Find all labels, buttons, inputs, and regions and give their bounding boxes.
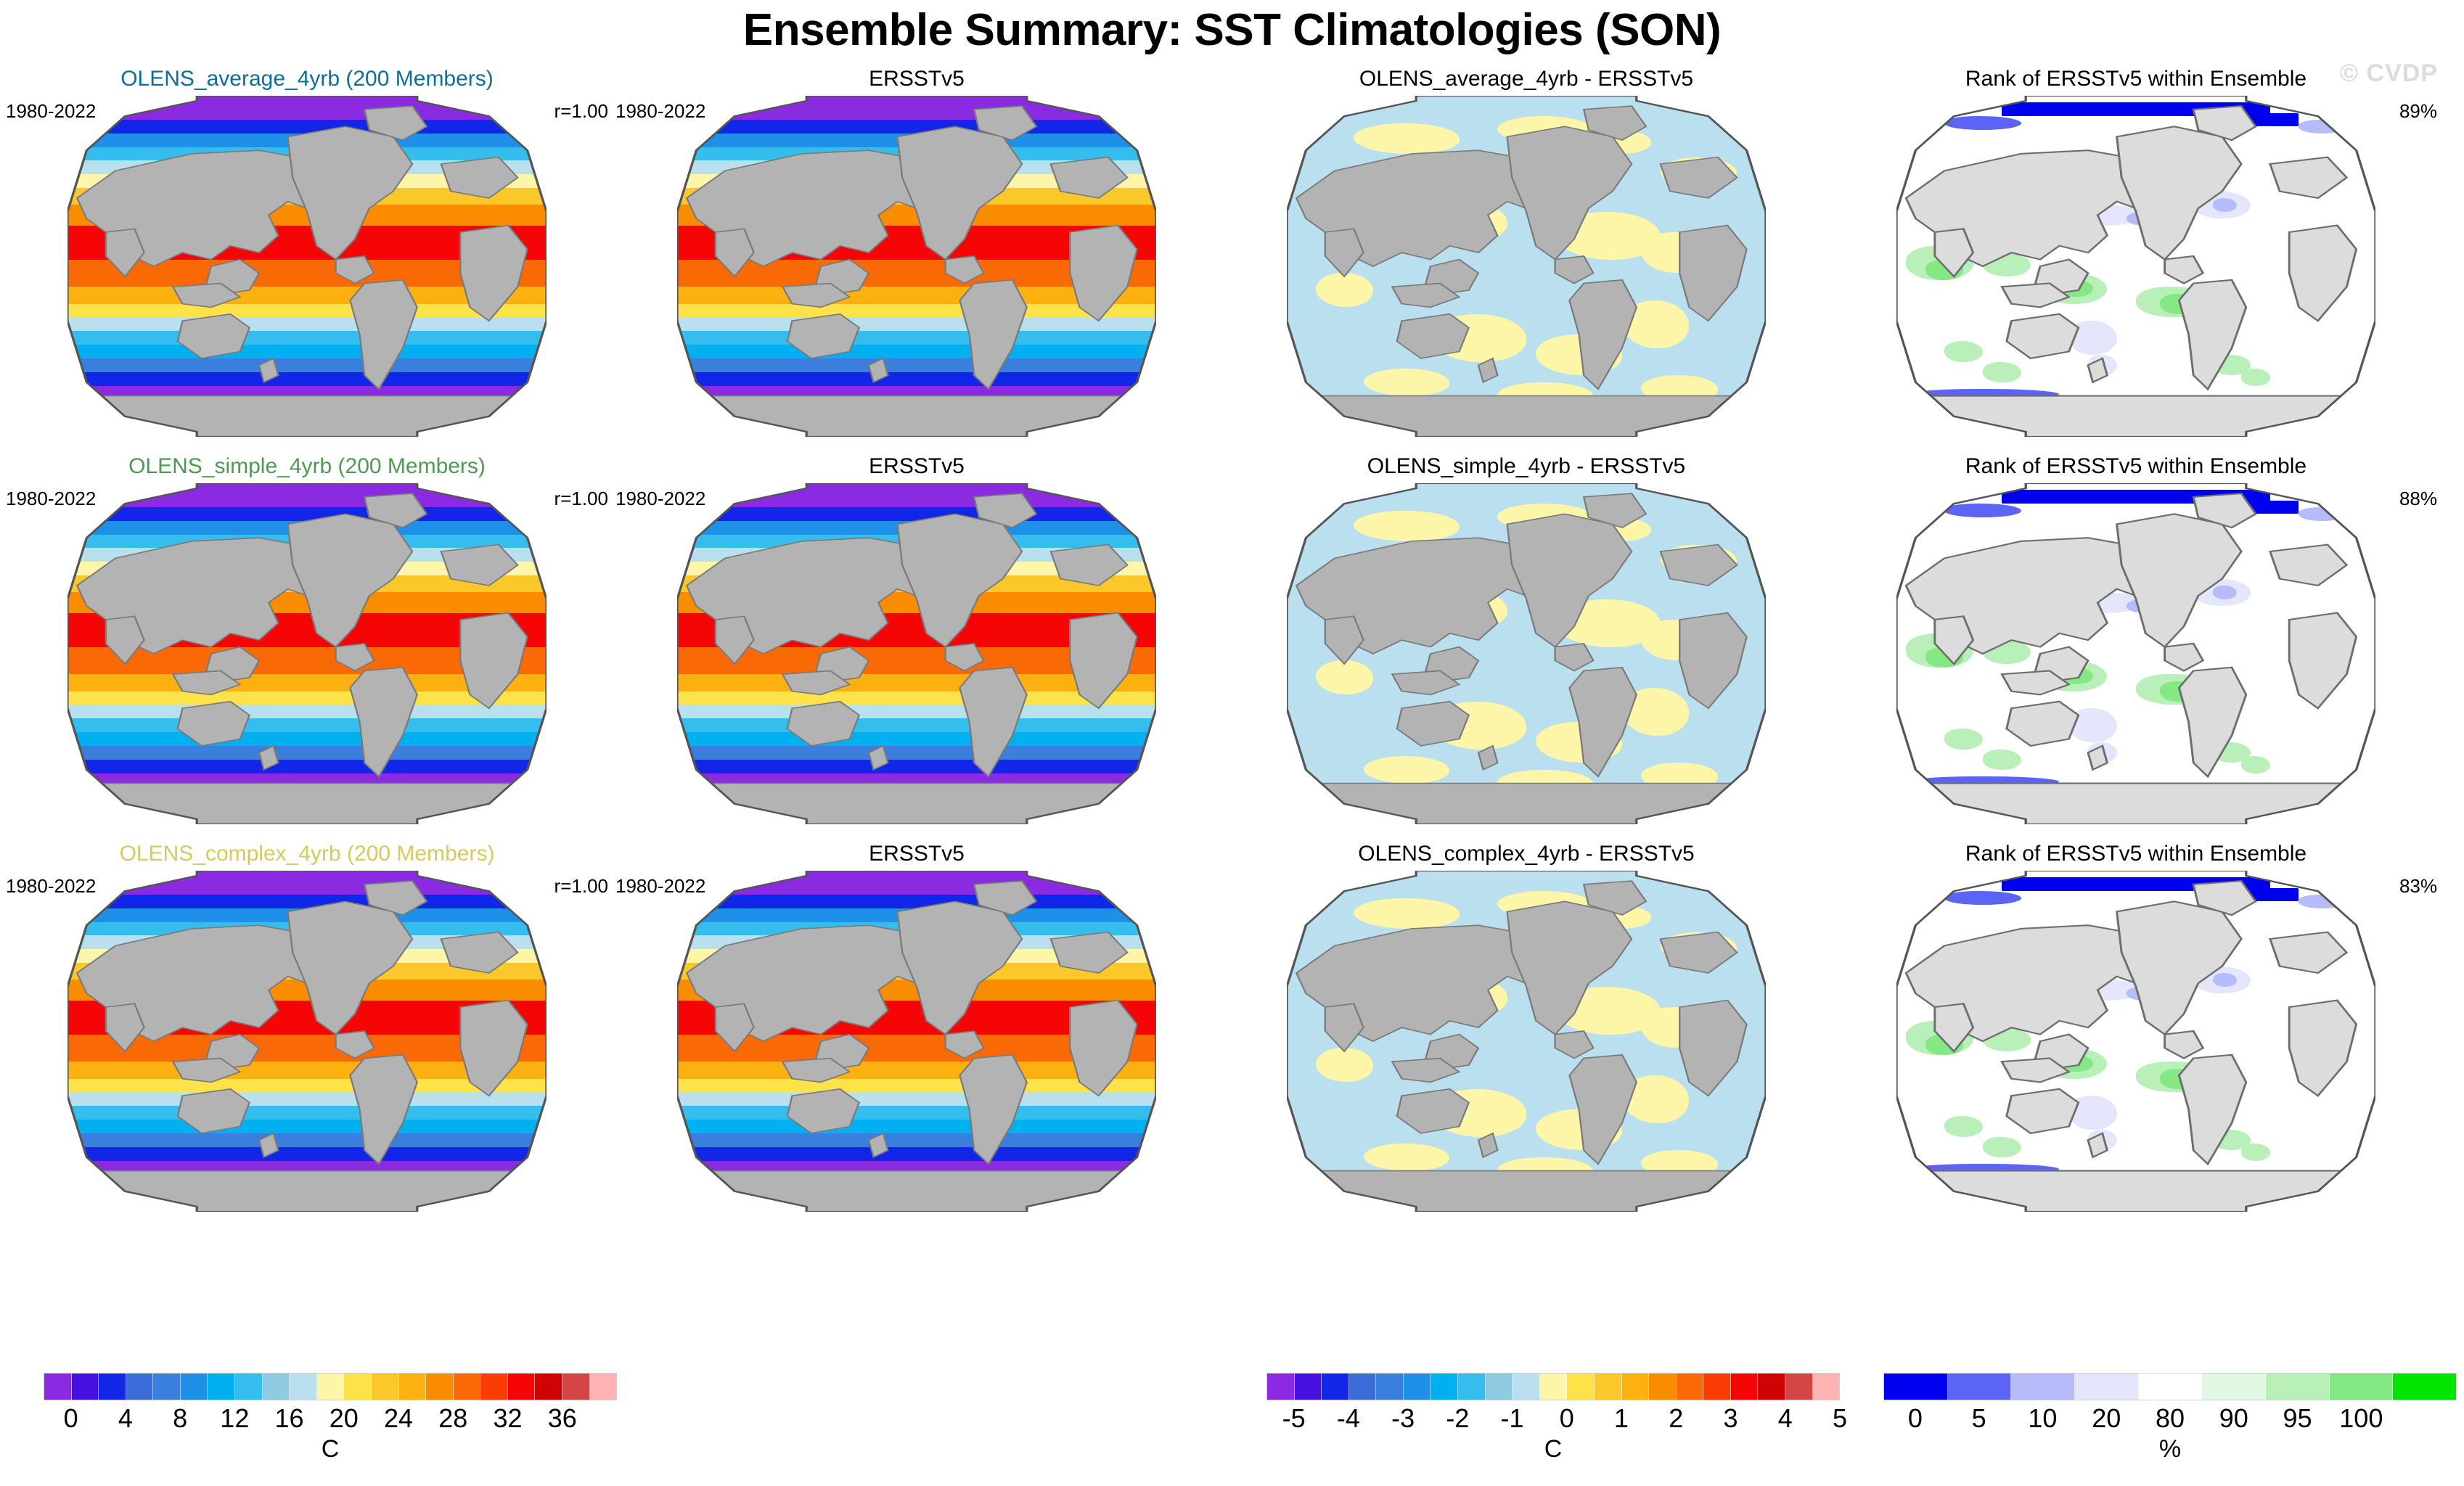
panel-title-ensemble: OLENS_simple_4yrb (200 Members) [6, 454, 608, 479]
colorbar-strip [1883, 1373, 2457, 1400]
map-rank[interactable] [1896, 96, 2375, 437]
colorbar-tick: 95 [2283, 1403, 2312, 1434]
correlation-label: r=1.00 [554, 100, 608, 123]
panel-title-observation: ERSSTv5 [615, 842, 1218, 866]
colorbar-swatch [181, 1374, 208, 1400]
colorbar-tick: 2 [1669, 1403, 1683, 1434]
colorbar-tick: 16 [275, 1403, 304, 1434]
panel-title-ensemble: OLENS_average_4yrb (200 Members) [6, 67, 608, 91]
colorbar-tick: 10 [2028, 1403, 2057, 1434]
colorbar-swatch [126, 1374, 154, 1400]
colorbar-swatch [1267, 1374, 1295, 1400]
panel-title-difference: OLENS_average_4yrb - ERSSTv5 [1225, 67, 1827, 91]
colorbar-tick: -3 [1391, 1403, 1415, 1434]
colorbar-swatch [235, 1374, 263, 1400]
colorbar-tick: -5 [1282, 1403, 1306, 1434]
panel-title-rank: Rank of ERSSTv5 within Ensemble [1835, 842, 2437, 866]
panel-difference-row1: OLENS_simple_4yrb - ERSSTv5 [1225, 454, 1827, 832]
land-outlines [1287, 871, 1766, 1212]
correlation-label: r=1.00 [554, 875, 608, 898]
colorbar-swatch [2139, 1374, 2203, 1400]
globe-rank [1896, 483, 2375, 824]
land-outlines [1287, 96, 1766, 437]
colorbar-swatch [99, 1374, 126, 1400]
land-outlines [1896, 483, 2375, 824]
panel-observation-row0: ERSSTv5 1980-2022 [615, 67, 1218, 444]
panel-rank-row2: Rank of ERSSTv5 within Ensemble 83% [1835, 842, 2437, 1219]
colorbar-rank: 051020809095100 % [1883, 1373, 2457, 1474]
rank-percentage-label: 88% [2399, 488, 2437, 510]
colorbar-swatch [1731, 1374, 1759, 1400]
colorbar-tick: 24 [384, 1403, 413, 1434]
land-outlines [67, 871, 547, 1212]
colorbar-swatch [317, 1374, 345, 1400]
land-outlines [67, 96, 547, 437]
panel-title-difference: OLENS_complex_4yrb - ERSSTv5 [1225, 842, 1827, 866]
globe-ensemble [67, 96, 547, 437]
panel-observation-row2: ERSSTv5 1980-2022 [615, 842, 1218, 1219]
colorbar-swatch [290, 1374, 317, 1400]
colorbar-swatch [480, 1374, 508, 1400]
colorbar-swatch [1349, 1374, 1377, 1400]
colorbar-swatch [2075, 1374, 2139, 1400]
page-title: Ensemble Summary: SST Climatologies (SON… [0, 4, 2464, 56]
panel-title-ensemble: OLENS_complex_4yrb (200 Members) [6, 842, 608, 866]
colorbar-swatch [399, 1374, 427, 1400]
colorbar-tick: 12 [220, 1403, 249, 1434]
globe-observation [677, 96, 1156, 437]
colorbar-swatch [1513, 1374, 1540, 1400]
colorbar-tick: 28 [438, 1403, 467, 1434]
colorbar-swatch [2011, 1374, 2075, 1400]
panel-rank-row1: Rank of ERSSTv5 within Ensemble 88% [1835, 454, 2437, 832]
colorbar-swatch [1622, 1374, 1650, 1400]
colorbar-swatch [590, 1374, 617, 1400]
colorbar-swatch [1430, 1374, 1458, 1400]
colorbar-strip [44, 1373, 617, 1400]
colorbar-swatch [1884, 1374, 1948, 1400]
globe-rank [1896, 871, 2375, 1212]
colorbar-tick: 1 [1614, 1403, 1629, 1434]
colorbar-swatch [1540, 1374, 1568, 1400]
colorbar-tick: -1 [1501, 1403, 1524, 1434]
globe-difference [1287, 96, 1766, 437]
colorbar-swatch [1677, 1374, 1704, 1400]
colorbar-swatch [1486, 1374, 1513, 1400]
colorbar-tick: 20 [2092, 1403, 2121, 1434]
colorbar-tick: 90 [2219, 1403, 2248, 1434]
colorbar-tick: 80 [2156, 1403, 2185, 1434]
colorbar-swatch [1458, 1374, 1486, 1400]
colorbar-ticks: 04812162024283236 [44, 1403, 617, 1435]
colorbar-difference: -5-4-3-2-1012345 C [1266, 1373, 1840, 1474]
panel-title-observation: ERSSTv5 [615, 454, 1218, 479]
colorbar-swatch [1376, 1374, 1404, 1400]
colorbar-swatch [426, 1374, 454, 1400]
colorbar-swatch [153, 1374, 181, 1400]
globe-rank [1896, 96, 2375, 437]
colorbar-tick: 36 [548, 1403, 577, 1434]
land-outlines [677, 871, 1156, 1212]
colorbar-swatch [44, 1374, 72, 1400]
colorbar-tick: 0 [1560, 1403, 1574, 1434]
colorbar-tick: 0 [1908, 1403, 1923, 1434]
colorbar-swatch [1758, 1374, 1785, 1400]
colorbar-tick: 32 [493, 1403, 522, 1434]
map-ensemble[interactable] [67, 871, 547, 1212]
panel-title-difference: OLENS_simple_4yrb - ERSSTv5 [1225, 454, 1827, 479]
colorbar-tick: -4 [1337, 1403, 1360, 1434]
colorbar-swatch [1567, 1374, 1595, 1400]
correlation-label: r=1.00 [554, 488, 608, 510]
panel-difference-row0: OLENS_average_4yrb - ERSSTv5 [1225, 67, 1827, 444]
colorbar-tick: 4 [118, 1403, 133, 1434]
colorbar-swatch [1703, 1374, 1731, 1400]
land-outlines [677, 483, 1156, 824]
colorbar-sst: 04812162024283236 C [44, 1373, 617, 1474]
colorbar-tick: 5 [1972, 1403, 1986, 1434]
panel-title-observation: ERSSTv5 [615, 67, 1218, 91]
colorbar-swatch [263, 1374, 290, 1400]
globe-observation [677, 871, 1156, 1212]
colorbar-swatch [2202, 1374, 2266, 1400]
colorbar-swatch [1595, 1374, 1622, 1400]
colorbar-swatch [1404, 1374, 1431, 1400]
colorbar-ticks: -5-4-3-2-1012345 [1266, 1403, 1840, 1435]
map-rank[interactable] [1896, 871, 2375, 1212]
colorbar-tick: 100 [2339, 1403, 2383, 1434]
land-outlines [67, 483, 547, 824]
globe-difference [1287, 871, 1766, 1212]
colorbar-swatch [344, 1374, 372, 1400]
rank-percentage-label: 89% [2399, 100, 2437, 123]
colorbar-swatch [2393, 1374, 2456, 1400]
colorbar-tick: 20 [330, 1403, 359, 1434]
colorbar-swatch [208, 1374, 235, 1400]
land-outlines [677, 96, 1156, 437]
colorbar-swatch [2330, 1374, 2394, 1400]
panel-difference-row2: OLENS_complex_4yrb - ERSSTv5 [1225, 842, 1827, 1219]
colorbar-swatch [1948, 1374, 2012, 1400]
colorbar-swatch [1322, 1374, 1349, 1400]
land-outlines [1896, 96, 2375, 437]
map-observation[interactable] [677, 871, 1156, 1212]
colorbar-tick: -2 [1446, 1403, 1469, 1434]
colorbar-tick: 5 [1833, 1403, 1847, 1434]
land-outlines [1287, 483, 1766, 824]
colorbar-unit-label: % [1883, 1435, 2457, 1464]
colorbar-swatch [1813, 1374, 1840, 1400]
colorbar-swatch [562, 1374, 590, 1400]
colorbar-swatch [1649, 1374, 1677, 1400]
colorbar-ticks: 051020809095100 [1883, 1403, 2457, 1435]
panel-ensemble-row0: OLENS_average_4yrb (200 Members) 1980-20… [6, 67, 608, 444]
map-ensemble[interactable] [67, 483, 547, 824]
globe-ensemble [67, 871, 547, 1212]
globe-observation [677, 483, 1156, 824]
colorbar-tick: 8 [173, 1403, 187, 1434]
colorbar-unit-label: C [44, 1435, 617, 1464]
panel-title-rank: Rank of ERSSTv5 within Ensemble [1835, 454, 2437, 479]
land-outlines [1896, 871, 2375, 1212]
map-difference[interactable] [1287, 96, 1766, 437]
map-observation[interactable] [677, 96, 1156, 437]
colorbar-tick: 4 [1778, 1403, 1793, 1434]
map-difference[interactable] [1287, 483, 1766, 824]
colorbar-unit-label: C [1266, 1435, 1840, 1464]
globe-ensemble [67, 483, 547, 824]
colorbar-swatch [508, 1374, 536, 1400]
panel-observation-row1: ERSSTv5 1980-2022 [615, 454, 1218, 832]
colorbar-swatch [2266, 1374, 2330, 1400]
map-difference[interactable] [1287, 871, 1766, 1212]
globe-difference [1287, 483, 1766, 824]
panel-ensemble-row2: OLENS_complex_4yrb (200 Members) 1980-20… [6, 842, 608, 1219]
colorbar-swatch [1295, 1374, 1322, 1400]
map-rank[interactable] [1896, 483, 2375, 824]
map-ensemble[interactable] [67, 96, 547, 437]
colorbar-swatch [454, 1374, 481, 1400]
colorbar-tick: 3 [1724, 1403, 1738, 1434]
panel-title-rank: Rank of ERSSTv5 within Ensemble [1835, 67, 2437, 91]
rank-percentage-label: 83% [2399, 875, 2437, 898]
colorbar-swatch [372, 1374, 399, 1400]
colorbar-swatch [1785, 1374, 1813, 1400]
colorbar-strip [1266, 1373, 1840, 1400]
colorbar-swatch [535, 1374, 562, 1400]
panel-ensemble-row1: OLENS_simple_4yrb (200 Members) 1980-202… [6, 454, 608, 832]
colorbar-tick: 0 [64, 1403, 78, 1434]
map-observation[interactable] [677, 483, 1156, 824]
panel-rank-row0: Rank of ERSSTv5 within Ensemble 89% [1835, 67, 2437, 444]
colorbar-swatch [72, 1374, 99, 1400]
